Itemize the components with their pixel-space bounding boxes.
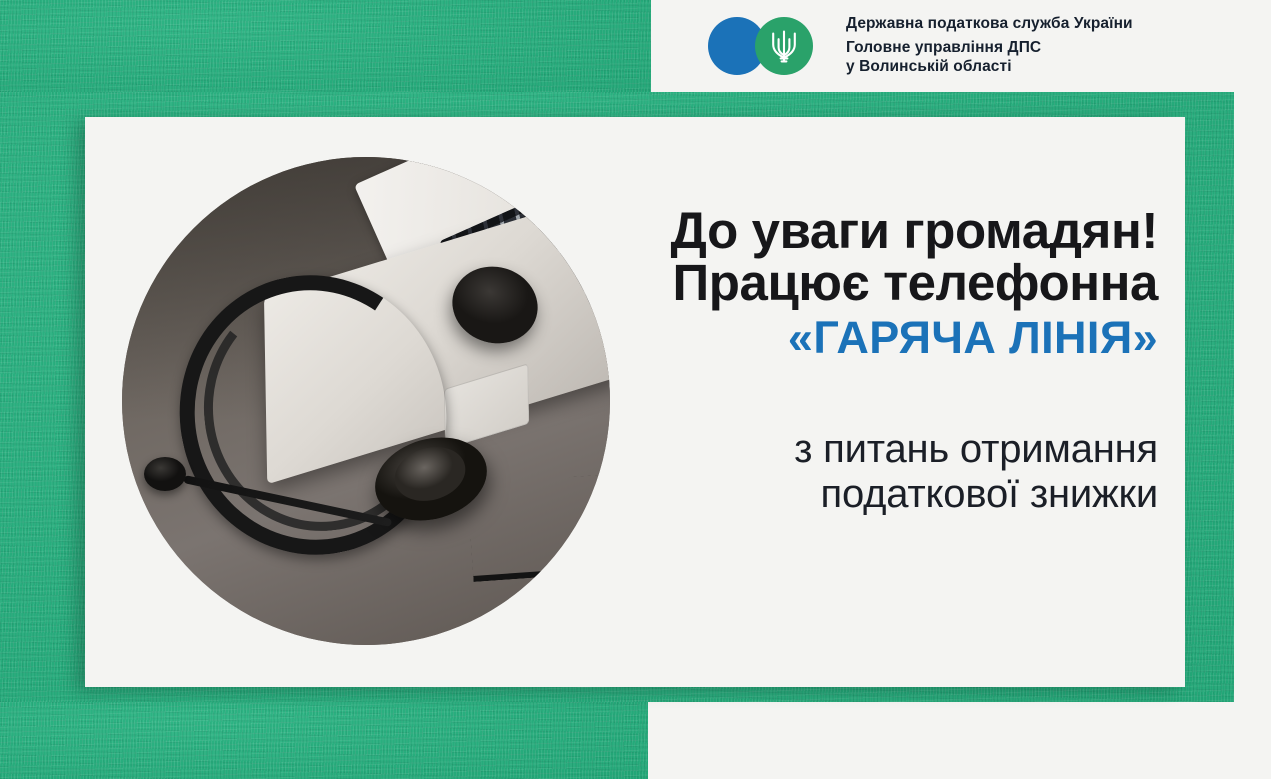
headline-accent: «ГАРЯЧА ЛІНІЯ» xyxy=(628,315,1158,361)
header-bar: Державна податкова служба України Головн… xyxy=(651,0,1271,92)
copy-block: До уваги громадян! Працює телефонна «ГАР… xyxy=(628,205,1158,517)
agency-name-national: Державна податкова служба України xyxy=(846,15,1133,34)
headline-line-2: Працює телефонна xyxy=(628,257,1158,309)
agency-title-block: Державна податкова служба України Головн… xyxy=(846,15,1133,77)
content-card: До уваги громадян! Працює телефонна «ГАР… xyxy=(85,117,1185,687)
subheadline-line-2: податкової знижки xyxy=(628,472,1158,517)
headset-photo xyxy=(122,157,610,645)
headline: До уваги громадян! Працює телефонна «ГАР… xyxy=(628,205,1158,361)
trident-icon xyxy=(755,17,813,75)
headset-mic-foam xyxy=(144,457,186,491)
headline-line-1: До уваги громадян! xyxy=(628,205,1158,257)
agency-name-regional-2: у Волинській області xyxy=(846,58,1133,77)
photo-artwork xyxy=(122,157,610,645)
subheadline: з питань отримання податкової знижки xyxy=(628,427,1158,517)
agency-logo xyxy=(708,17,830,75)
agency-name-regional-1: Головне управління ДПС xyxy=(846,39,1133,58)
background-green-footer xyxy=(0,702,648,779)
background-green-top xyxy=(0,0,651,92)
subheadline-line-1: з питань отримання xyxy=(628,427,1158,472)
poster-canvas: Державна податкова служба України Головн… xyxy=(0,0,1271,779)
